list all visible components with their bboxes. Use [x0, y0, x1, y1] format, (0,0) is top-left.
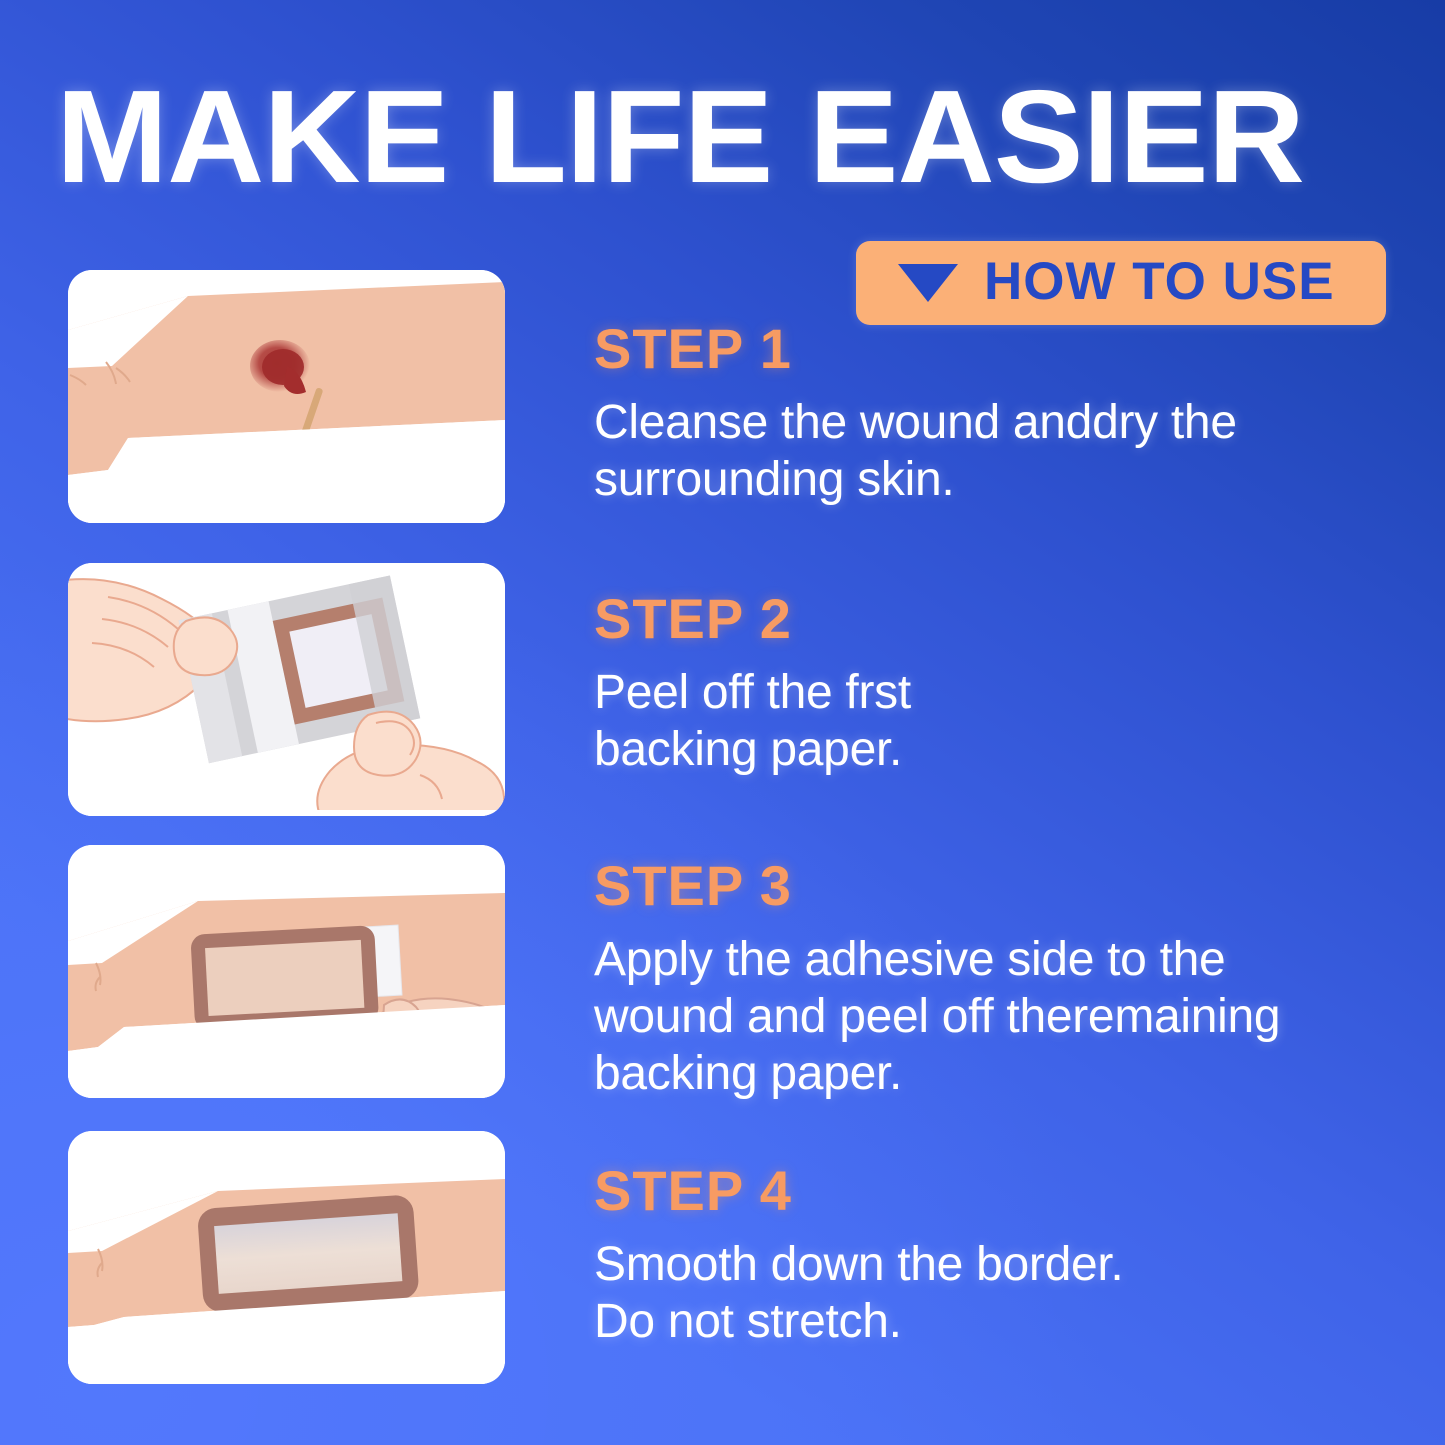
step-1-body: Cleanse the wound anddry the surrounding… — [594, 394, 1384, 508]
step-1-heading: STEP 1 — [594, 318, 1384, 380]
how-to-use-badge[interactable]: HOW TO USE — [856, 241, 1386, 325]
step-4-heading: STEP 4 — [594, 1160, 1384, 1222]
step-2-heading: STEP 2 — [594, 588, 1384, 650]
step-2-body: Peel off the frst backing paper. — [594, 664, 1384, 778]
step-block-2: STEP 2 Peel off the frst backing paper. — [594, 588, 1384, 778]
poster-root: MAKE LIFE EASIER HOW TO USE — [0, 0, 1445, 1445]
illustration-step-2 — [68, 563, 505, 816]
illustration-step-4 — [68, 1131, 505, 1384]
page-title: MAKE LIFE EASIER — [56, 72, 1423, 202]
illustration-step-3 — [68, 845, 505, 1098]
step-block-1: STEP 1 Cleanse the wound anddry the surr… — [594, 318, 1384, 508]
step-3-body: Apply the adhesive side to the wound and… — [594, 931, 1384, 1102]
step-block-4: STEP 4 Smooth down the border. Do not st… — [594, 1160, 1384, 1350]
hands-peeling-backing-paper-icon — [68, 563, 505, 816]
how-to-use-label: HOW TO USE — [984, 255, 1335, 308]
step-block-3: STEP 3 Apply the adhesive side to the wo… — [594, 855, 1384, 1102]
bandage-applied-peeling-remaining-paper-icon — [68, 845, 505, 1098]
step-4-body: Smooth down the border. Do not stretch. — [594, 1236, 1384, 1350]
arm-with-wound-and-cotton-swab-icon — [68, 270, 505, 523]
bandage-smoothed-on-arm-icon — [68, 1131, 505, 1384]
triangle-down-icon — [898, 264, 958, 302]
step-3-heading: STEP 3 — [594, 855, 1384, 917]
illustration-step-1 — [68, 270, 505, 523]
